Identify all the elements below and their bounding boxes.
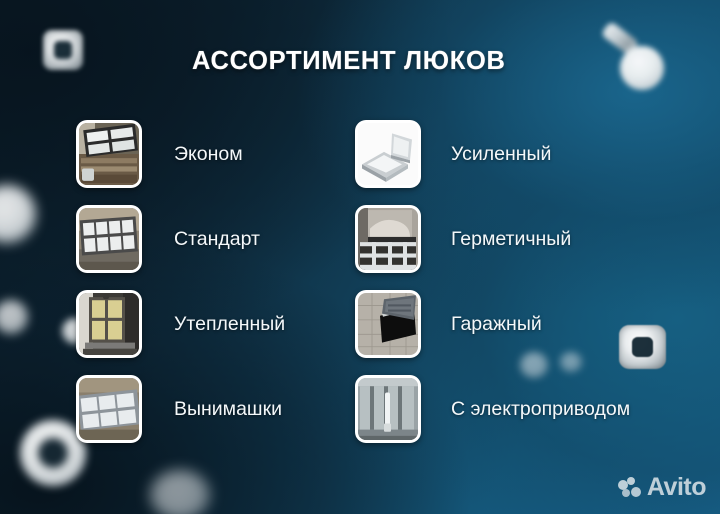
hatch-sealed-photo	[355, 205, 421, 273]
avito-logo-icon	[618, 477, 642, 498]
list-item-label: Стандарт	[174, 228, 260, 251]
hatch-electric-photo	[355, 375, 421, 443]
list-item-label: Гаражный	[451, 313, 542, 336]
list-item[interactable]: С электроприводом	[355, 375, 630, 443]
list-item[interactable]: Вынимашки	[76, 375, 285, 443]
list-item[interactable]: Стандарт	[76, 205, 285, 273]
list-item-label: Вынимашки	[174, 398, 282, 421]
list-item-label: Эконом	[174, 143, 243, 166]
hatch-reinforced-photo	[355, 120, 421, 188]
product-list-right: Усиленный	[355, 120, 630, 460]
promo-banner: АССОРТИМЕНТ ЛЮКОВ	[0, 0, 720, 514]
list-item[interactable]: Эконом	[76, 120, 285, 188]
bolt-blurred-top-right	[596, 16, 682, 102]
list-item-label: Усиленный	[451, 143, 551, 166]
blob-blurred-left-lower	[0, 300, 28, 334]
list-item-label: Герметичный	[451, 228, 571, 251]
list-item-label: Утепленный	[174, 313, 285, 336]
list-item[interactable]: Утепленный	[76, 290, 285, 358]
avito-watermark: Avito	[618, 475, 706, 500]
hex-nut-blurred-top-left	[43, 30, 83, 70]
list-item-label: С электроприводом	[451, 398, 630, 421]
hatch-standard-photo	[76, 205, 142, 273]
hatch-insulated-photo	[76, 290, 142, 358]
list-item[interactable]: Гаражный	[355, 290, 630, 358]
hatch-garage-photo	[355, 290, 421, 358]
hatch-econom-photo	[76, 120, 142, 188]
blob-blurred-left-upper	[0, 185, 36, 243]
avito-wordmark: Avito	[647, 475, 706, 500]
product-list-left: Эконом	[76, 120, 285, 460]
blob-blurred-bottom-center	[150, 470, 210, 514]
list-item[interactable]: Усиленный	[355, 120, 630, 188]
list-item[interactable]: Герметичный	[355, 205, 630, 273]
page-title: АССОРТИМЕНТ ЛЮКОВ	[192, 47, 506, 76]
hatch-removable-photo	[76, 375, 142, 443]
